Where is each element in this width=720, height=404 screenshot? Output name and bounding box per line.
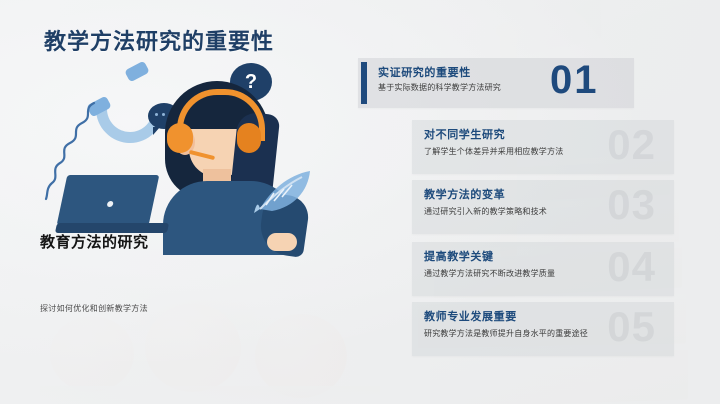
list-item-description: 了解学生个体差异并采用相应教学方法 — [424, 146, 563, 158]
active-item-accent-bar — [361, 62, 367, 104]
slide-canvas: 教学方法研究的重要性 ? — [0, 0, 720, 404]
list-item-heading: 提高教学关键 — [424, 248, 494, 264]
list-item-description: 通过教学方法研究不断改进教学质量 — [424, 268, 555, 280]
list-item-heading: 教师专业发展重要 — [424, 308, 517, 324]
list-item-description: 通过研究引入新的教学策略和技术 — [424, 206, 547, 218]
item-number-01: 01 — [550, 60, 599, 100]
item-number-ghost-02: 02 — [607, 124, 656, 166]
content-list: 01 实证研究的重要性 基于实际数据的科学教学方法研究 02 对不同学生研究 了… — [0, 0, 720, 404]
list-item-heading: 实证研究的重要性 — [378, 64, 471, 80]
list-item-heading: 教学方法的变革 — [424, 186, 505, 202]
item-number-ghost-03: 03 — [607, 184, 656, 226]
list-item-description: 基于实际数据的科学教学方法研究 — [378, 82, 501, 94]
item-number-ghost-05: 05 — [607, 306, 656, 348]
list-item-description: 研究教学方法是教师提升自身水平的重要途径 — [424, 328, 604, 340]
item-number-ghost-04: 04 — [607, 246, 656, 288]
list-item-heading: 对不同学生研究 — [424, 126, 505, 142]
